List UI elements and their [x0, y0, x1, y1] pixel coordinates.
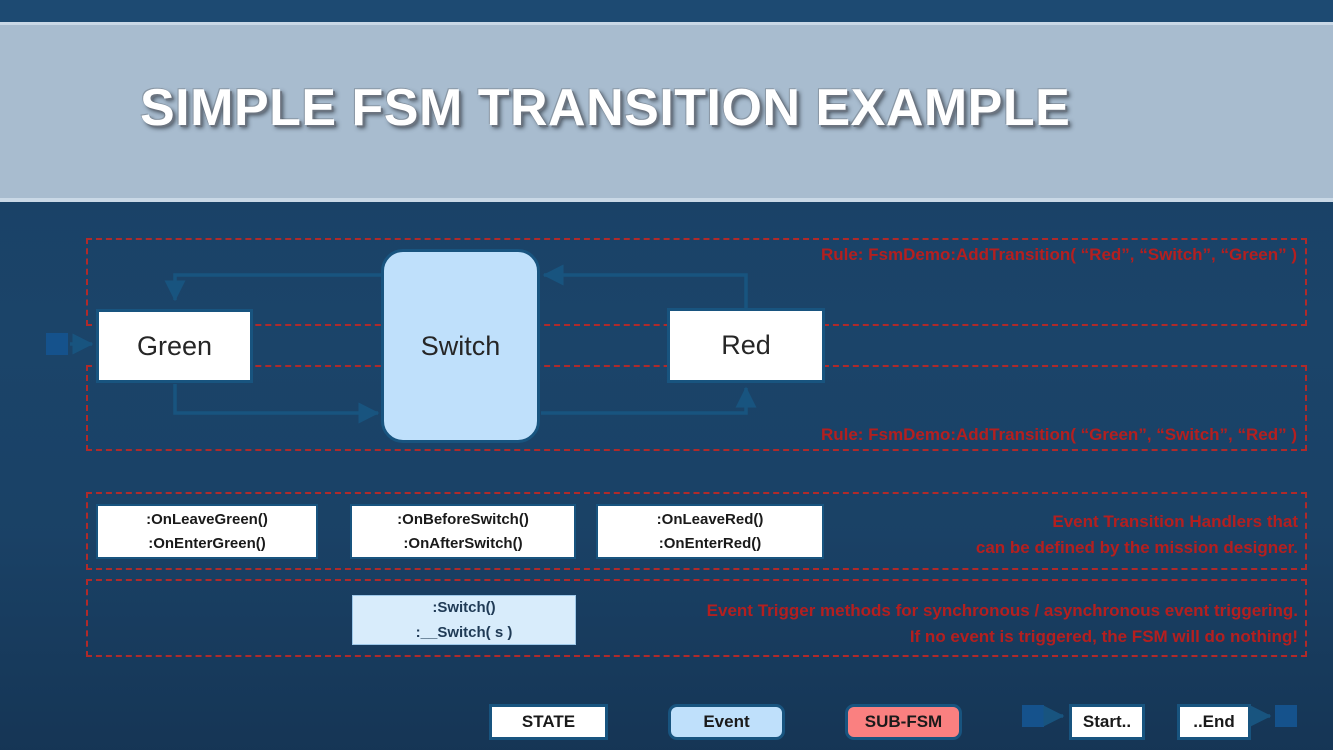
handler-switch-line1: :OnBeforeSwitch() — [397, 508, 529, 531]
handler-box-green[interactable]: :OnLeaveGreen() :OnEnterGreen() — [96, 504, 318, 559]
handlers-caption-line2: can be defined by the mission designer. — [840, 535, 1298, 561]
handler-box-red[interactable]: :OnLeaveRed() :OnEnterRed() — [596, 504, 824, 559]
handler-red-line2: :OnEnterRed() — [659, 532, 762, 555]
handler-box-switch[interactable]: :OnBeforeSwitch() :OnAfterSwitch() — [350, 504, 576, 559]
rule-label-red-to-green: Rule: FsmDemo:AddTransition( “Red”, “Swi… — [707, 245, 1297, 265]
handlers-caption-line1: Event Transition Handlers that — [840, 509, 1298, 535]
state-node-green[interactable]: Green — [96, 309, 253, 383]
header-bottom-divider — [0, 198, 1333, 202]
triggers-caption-line1: Event Trigger methods for synchronous / … — [600, 598, 1298, 624]
handler-switch-line2: :OnAfterSwitch() — [403, 532, 522, 555]
event-node-switch[interactable]: Switch — [381, 249, 540, 443]
trigger-switch-line2: :__Switch( s ) — [416, 620, 513, 646]
handlers-caption: Event Transition Handlers that can be de… — [840, 509, 1298, 562]
page-title: SIMPLE FSM TRANSITION EXAMPLE — [140, 78, 1240, 138]
triggers-caption-line2: If no event is triggered, the FSM will d… — [600, 624, 1298, 650]
state-node-red-label: Red — [721, 330, 771, 361]
rule-label-green-to-red: Rule: FsmDemo:AddTransition( “Green”, “S… — [707, 425, 1297, 445]
handler-green-line1: :OnLeaveGreen() — [146, 508, 268, 531]
slide-canvas: SIMPLE FSM TRANSITION EXAMPLE Rule: FsmD… — [0, 0, 1333, 750]
trigger-switch-line1: :Switch() — [432, 595, 495, 621]
legend-bar: STATE Event SUB-FSM Start.. ..End — [0, 698, 1333, 746]
triggers-caption: Event Trigger methods for synchronous / … — [600, 598, 1298, 651]
handler-red-line1: :OnLeaveRed() — [657, 508, 764, 531]
legend-arrow-icons — [0, 698, 1333, 746]
event-node-switch-label: Switch — [421, 331, 501, 362]
state-node-green-label: Green — [137, 331, 212, 362]
state-node-red[interactable]: Red — [667, 308, 825, 383]
handler-green-line2: :OnEnterGreen() — [148, 532, 266, 555]
trigger-box-switch[interactable]: :Switch() :__Switch( s ) — [352, 595, 576, 645]
